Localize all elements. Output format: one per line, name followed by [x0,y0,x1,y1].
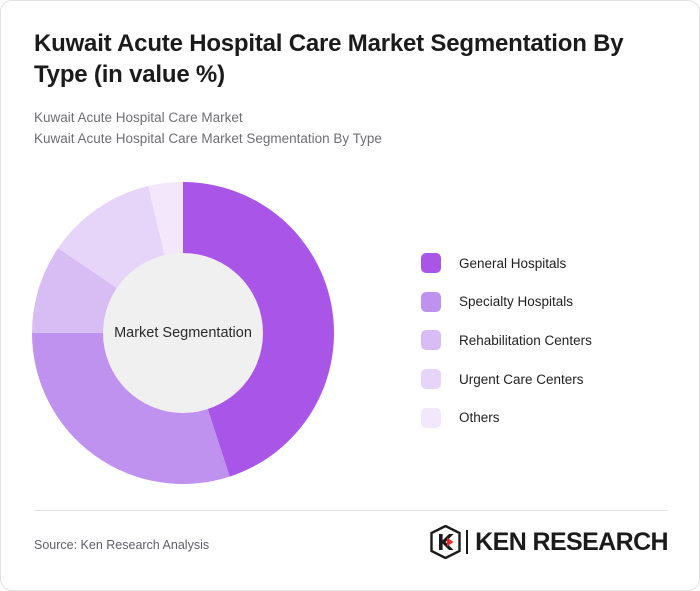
source-note: Source: Ken Research Analysis [34,538,209,552]
legend-item-label: General Hospitals [459,256,566,271]
chart-legend: General HospitalsSpecialty HospitalsReha… [421,244,592,437]
legend-item[interactable]: Urgent Care Centers [421,360,592,399]
footer-divider [34,510,668,511]
donut-center-label: Market Segmentation [114,325,252,341]
legend-item[interactable]: Specialty Hospitals [421,283,592,322]
legend-item-label: Urgent Care Centers [459,372,584,387]
legend-swatch-icon [421,292,441,312]
ken-research-hexagon-logo-icon [430,525,461,559]
chart-plot-area: Market Segmentation General HospitalsSpe… [1,166,700,506]
legend-item-label: Others [459,410,500,425]
brand-divider [466,530,468,554]
subtitle-line-1: Kuwait Acute Hospital Care Market [34,108,664,129]
subtitle-line-2: Kuwait Acute Hospital Care Market Segmen… [34,129,664,150]
chart-header: Kuwait Acute Hospital Care Market Segmen… [34,29,664,150]
legend-swatch-icon [421,369,441,389]
legend-item[interactable]: General Hospitals [421,244,592,283]
legend-swatch-icon [421,253,441,273]
donut-chart: Market Segmentation [32,182,334,484]
legend-swatch-icon [421,408,441,428]
legend-swatch-icon [421,330,441,350]
subtitle-block: Kuwait Acute Hospital Care Market Kuwait… [34,108,664,150]
brand-name: KEN RESEARCH [475,528,668,557]
donut-chart-svg: Market Segmentation [32,182,334,484]
legend-item[interactable]: Rehabilitation Centers [421,321,592,360]
legend-item-label: Rehabilitation Centers [459,333,592,348]
legend-item[interactable]: Others [421,398,592,437]
page-title: Kuwait Acute Hospital Care Market Segmen… [34,29,664,90]
brand-logo: KEN RESEARCH [430,525,668,559]
legend-item-label: Specialty Hospitals [459,294,573,309]
chart-card: Kuwait Acute Hospital Care Market Segmen… [0,0,700,591]
